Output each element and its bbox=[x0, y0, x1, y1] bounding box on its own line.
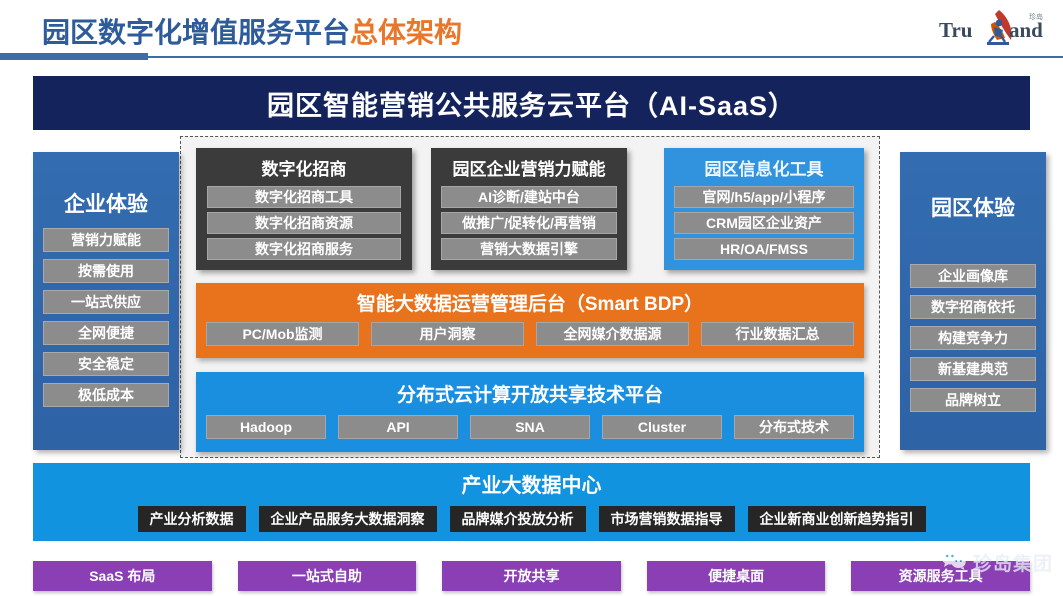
list-item[interactable]: 营销大数据引擎 bbox=[441, 238, 617, 260]
smart-bdp-items: PC/Mob监测 用户洞察 全网媒介数据源 行业数据汇总 bbox=[196, 322, 864, 346]
footer-tag[interactable]: SaaS 布局 bbox=[33, 561, 212, 591]
svg-text:珍岛: 珍岛 bbox=[1029, 12, 1043, 21]
list-item[interactable]: 企业画像库 bbox=[910, 264, 1036, 288]
list-item[interactable]: CRM园区企业资产 bbox=[674, 212, 854, 234]
list-item[interactable]: 官网/h5/app/小程序 bbox=[674, 186, 854, 208]
footer-tag[interactable]: 一站式自助 bbox=[238, 561, 417, 591]
cloud-platform-band: 分布式云计算开放共享技术平台 Hadoop API SNA Cluster 分布… bbox=[196, 372, 864, 452]
list-item[interactable]: 数字化招商工具 bbox=[207, 186, 401, 208]
list-item[interactable]: 全网便捷 bbox=[43, 321, 169, 345]
park-experience-panel: 园区体验 企业画像库 数字招商依托 构建竞争力 新基建典范 品牌树立 bbox=[900, 152, 1046, 450]
park-experience-items: 企业画像库 数字招商依托 构建竞争力 新基建典范 品牌树立 bbox=[900, 264, 1046, 412]
list-item[interactable]: 营销力赋能 bbox=[43, 228, 169, 252]
list-item[interactable]: 做推广/促转化/再营销 bbox=[441, 212, 617, 234]
svg-text:and: and bbox=[1009, 18, 1043, 42]
slide-canvas: 园区数字化增值服务平台总体架构 Tru and 珍岛 园区智能营销公共服务云平台… bbox=[0, 0, 1063, 596]
industry-data-center-items: 产业分析数据 企业产品服务大数据洞察 品牌媒介投放分析 市场营销数据指导 企业新… bbox=[33, 506, 1030, 532]
enterprise-experience-title: 企业体验 bbox=[64, 188, 148, 218]
cloud-platform-items: Hadoop API SNA Cluster 分布式技术 bbox=[196, 415, 864, 439]
cloud-platform-title: 分布式云计算开放共享技术平台 bbox=[397, 380, 663, 407]
page-title-accent: 总体架构 bbox=[350, 17, 462, 48]
list-item[interactable]: 品牌媒介投放分析 bbox=[450, 506, 586, 532]
platform-banner: 园区智能营销公共服务云平台（AI-SaaS） bbox=[33, 76, 1030, 130]
capability-box-items: AI诊断/建站中台 做推广/促转化/再营销 营销大数据引擎 bbox=[431, 186, 627, 260]
capability-box-title: 数字化招商 bbox=[262, 155, 347, 180]
header-rule-thin bbox=[148, 56, 1063, 58]
capability-box-marketing-empowerment: 园区企业营销力赋能 AI诊断/建站中台 做推广/促转化/再营销 营销大数据引擎 bbox=[431, 148, 627, 270]
capability-box-items: 官网/h5/app/小程序 CRM园区企业资产 HR/OA/FMSS bbox=[664, 186, 864, 260]
list-item[interactable]: PC/Mob监测 bbox=[206, 322, 359, 346]
list-item[interactable]: 数字化招商服务 bbox=[207, 238, 401, 260]
list-item[interactable]: 用户洞察 bbox=[371, 322, 524, 346]
platform-banner-label: 园区智能营销公共服务云平台（AI-SaaS） bbox=[267, 84, 796, 123]
list-item[interactable]: 数字招商依托 bbox=[910, 295, 1036, 319]
list-item[interactable]: 新基建典范 bbox=[910, 357, 1036, 381]
capability-box-title: 园区信息化工具 bbox=[705, 155, 824, 180]
list-item[interactable]: 行业数据汇总 bbox=[701, 322, 854, 346]
list-item[interactable]: 产业分析数据 bbox=[138, 506, 246, 532]
watermark-label: 珍岛集团 bbox=[973, 549, 1053, 576]
list-item[interactable]: 市场营销数据指导 bbox=[599, 506, 735, 532]
footer-tag-row: SaaS 布局 一站式自助 开放共享 便捷桌面 资源服务工具 bbox=[33, 561, 1030, 591]
list-item[interactable]: 企业产品服务大数据洞察 bbox=[259, 506, 437, 532]
smart-bdp-band: 智能大数据运营管理后台（Smart BDP） PC/Mob监测 用户洞察 全网媒… bbox=[196, 283, 864, 358]
list-item[interactable]: SNA bbox=[470, 415, 590, 439]
list-item[interactable]: AI诊断/建站中台 bbox=[441, 186, 617, 208]
list-item[interactable]: 企业新商业创新趋势指引 bbox=[748, 506, 926, 532]
park-experience-title: 园区体验 bbox=[931, 192, 1015, 222]
industry-data-center-title: 产业大数据中心 bbox=[462, 469, 602, 498]
list-item[interactable]: 分布式技术 bbox=[734, 415, 854, 439]
truland-logo: Tru and 珍岛 bbox=[937, 6, 1049, 50]
industry-data-center-band: 产业大数据中心 产业分析数据 企业产品服务大数据洞察 品牌媒介投放分析 市场营销… bbox=[33, 463, 1030, 541]
footer-tag[interactable]: 开放共享 bbox=[442, 561, 621, 591]
smart-bdp-title: 智能大数据运营管理后台（Smart BDP） bbox=[357, 289, 703, 316]
list-item[interactable]: 按需使用 bbox=[43, 259, 169, 283]
slide-header: 园区数字化增值服务平台总体架构 Tru and 珍岛 bbox=[0, 0, 1063, 60]
capability-box-title: 园区企业营销力赋能 bbox=[453, 155, 606, 180]
wechat-watermark: 珍岛集团 bbox=[941, 549, 1053, 576]
list-item[interactable]: 一站式供应 bbox=[43, 290, 169, 314]
list-item[interactable]: HR/OA/FMSS bbox=[674, 238, 854, 260]
list-item[interactable]: API bbox=[338, 415, 458, 439]
capability-box-informatization-tools: 园区信息化工具 官网/h5/app/小程序 CRM园区企业资产 HR/OA/FM… bbox=[664, 148, 864, 270]
list-item[interactable]: 安全稳定 bbox=[43, 352, 169, 376]
enterprise-experience-panel: 企业体验 营销力赋能 按需使用 一站式供应 全网便捷 安全稳定 极低成本 bbox=[33, 152, 179, 450]
header-rule-thick bbox=[0, 53, 148, 60]
capability-box-digital-investment: 数字化招商 数字化招商工具 数字化招商资源 数字化招商服务 bbox=[196, 148, 412, 270]
wechat-icon bbox=[941, 549, 967, 576]
capability-box-items: 数字化招商工具 数字化招商资源 数字化招商服务 bbox=[196, 186, 412, 260]
list-item[interactable]: Cluster bbox=[602, 415, 722, 439]
list-item[interactable]: Hadoop bbox=[206, 415, 326, 439]
page-title-main: 园区数字化增值服务平台 bbox=[42, 17, 350, 48]
footer-tag[interactable]: 便捷桌面 bbox=[647, 561, 826, 591]
list-item[interactable]: 极低成本 bbox=[43, 383, 169, 407]
list-item[interactable]: 品牌树立 bbox=[910, 388, 1036, 412]
svg-text:Tru: Tru bbox=[939, 18, 973, 42]
enterprise-experience-items: 营销力赋能 按需使用 一站式供应 全网便捷 安全稳定 极低成本 bbox=[33, 228, 179, 407]
list-item[interactable]: 构建竞争力 bbox=[910, 326, 1036, 350]
list-item[interactable]: 数字化招商资源 bbox=[207, 212, 401, 234]
list-item[interactable]: 全网媒介数据源 bbox=[536, 322, 689, 346]
page-title: 园区数字化增值服务平台总体架构 bbox=[42, 11, 462, 51]
